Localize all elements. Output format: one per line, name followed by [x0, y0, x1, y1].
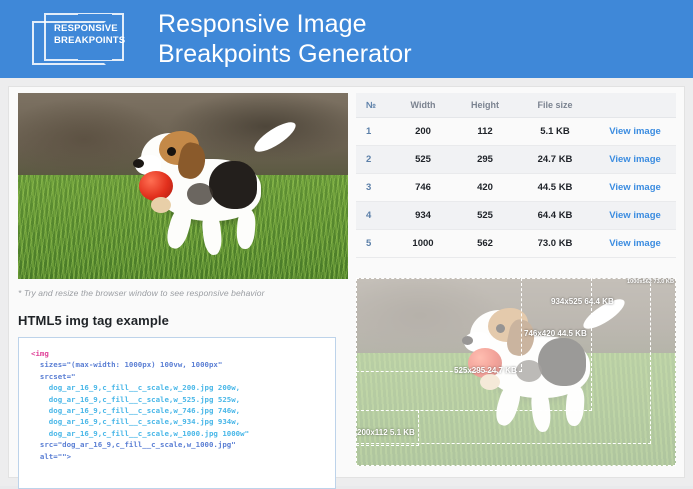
code-line-1: <img — [31, 349, 49, 358]
resize-hint: * Try and resize the browser window to s… — [18, 288, 348, 298]
bp-label-746: 746x420 44.5 KB — [524, 329, 587, 338]
cell-height: 525 — [454, 202, 516, 230]
logo[interactable]: RESPONSIVE BREAKPOINTS — [32, 11, 134, 67]
table-row: 1 200 112 5.1 KB View image — [356, 118, 676, 146]
code-line-7: dog_ar_16_9,c_fill__c_scale,w_934.jpg 93… — [31, 417, 240, 426]
dog-paw — [151, 197, 171, 213]
app-header: RESPONSIVE BREAKPOINTS Responsive Image … — [0, 0, 693, 78]
cell-action: View image — [594, 174, 676, 202]
dog-eye — [167, 147, 176, 156]
code-line-4: dog_ar_16_9,c_fill__c_scale,w_200.jpg 20… — [31, 383, 240, 392]
red-ball — [139, 171, 173, 201]
bp-label-200: 200x112 5.1 KB — [357, 428, 415, 437]
table-header-row: № Width Height File size — [356, 93, 676, 118]
cell-width: 200 — [392, 118, 454, 146]
table-row: 5 1000 562 73.0 KB View image — [356, 230, 676, 258]
table-row: 3 746 420 44.5 KB View image — [356, 174, 676, 202]
left-column: * Try and resize the browser window to s… — [18, 93, 348, 489]
logo-text: RESPONSIVE BREAKPOINTS — [54, 23, 125, 46]
cell-action: View image — [594, 230, 676, 258]
col-header-width: Width — [392, 93, 454, 118]
breakpoints-preview: 1000x562 73.0 KB 934x525 64.4 KB 746x420… — [356, 278, 676, 466]
view-image-link[interactable]: View image — [609, 210, 661, 221]
cell-height: 562 — [454, 230, 516, 258]
cell-filesize: 24.7 KB — [516, 146, 594, 174]
page-title-line1: Responsive Image — [158, 9, 412, 39]
cell-width: 934 — [392, 202, 454, 230]
dog-tail — [251, 117, 300, 157]
dog-nose — [133, 159, 144, 168]
cell-number: 4 — [356, 202, 392, 230]
table-row: 2 525 295 24.7 KB View image — [356, 146, 676, 174]
page-title-line2: Breakpoints Generator — [158, 39, 412, 69]
code-line-3: srcset=" — [31, 372, 76, 381]
logo-text-line1: RESPONSIVE — [54, 23, 125, 35]
cell-filesize: 44.5 KB — [516, 174, 594, 202]
logo-notch-top — [78, 14, 112, 20]
bp-rect-525 — [356, 278, 522, 372]
cell-action: View image — [594, 118, 676, 146]
logo-notch-bottom — [78, 54, 112, 60]
code-line-2: sizes="(max-width: 1000px) 100vw, 1000px… — [31, 360, 222, 369]
code-snippet: <img sizes="(max-width: 1000px) 100vw, 1… — [31, 348, 325, 462]
dog-patch — [209, 161, 257, 209]
cell-number: 5 — [356, 230, 392, 258]
bp-label-934: 934x525 64.4 KB — [551, 297, 614, 306]
cell-width: 1000 — [392, 230, 454, 258]
content-card: * Try and resize the browser window to s… — [8, 86, 685, 478]
photo-dog — [123, 123, 313, 263]
view-image-link[interactable]: View image — [609, 238, 661, 249]
bp-label-525: 525x295 24.7 KB — [454, 366, 517, 375]
col-header-action — [594, 93, 676, 118]
cell-number: 2 — [356, 146, 392, 174]
view-image-link[interactable]: View image — [609, 182, 661, 193]
cell-height: 420 — [454, 174, 516, 202]
cell-height: 295 — [454, 146, 516, 174]
app-page: RESPONSIVE BREAKPOINTS Responsive Image … — [0, 0, 693, 486]
dog-patch-secondary — [187, 183, 213, 205]
page-title: Responsive Image Breakpoints Generator — [158, 9, 412, 69]
cell-filesize: 64.4 KB — [516, 202, 594, 230]
code-line-10: alt=""> — [31, 452, 71, 461]
cell-action: View image — [594, 202, 676, 230]
code-line-5: dog_ar_16_9,c_fill__c_scale,w_525.jpg 52… — [31, 395, 240, 404]
cell-width: 525 — [392, 146, 454, 174]
preview-photo — [18, 93, 348, 279]
cell-action: View image — [594, 146, 676, 174]
code-line-8: dog_ar_16_9,c_fill__c_scale,w_1000.jpg 1… — [31, 429, 249, 438]
logo-text-line2: BREAKPOINTS — [54, 35, 125, 47]
cell-height: 112 — [454, 118, 516, 146]
view-image-link[interactable]: View image — [609, 126, 661, 137]
right-column: № Width Height File size 1 200 112 5.1 K… — [356, 93, 676, 466]
cell-width: 746 — [392, 174, 454, 202]
code-line-9: src="dog_ar_16_9,c_fill__c_scale,w_1000.… — [31, 440, 236, 449]
view-image-link[interactable]: View image — [609, 154, 661, 165]
col-header-height: Height — [454, 93, 516, 118]
cell-filesize: 5.1 KB — [516, 118, 594, 146]
col-header-filesize: File size — [516, 93, 594, 118]
code-section-title: HTML5 img tag example — [18, 313, 348, 328]
bp-label-1000: 1000x562 73.0 KB — [627, 279, 674, 285]
code-snippet-box[interactable]: <img sizes="(max-width: 1000px) 100vw, 1… — [18, 337, 336, 489]
dog-leg-rear — [236, 208, 257, 249]
table-row: 4 934 525 64.4 KB View image — [356, 202, 676, 230]
col-header-number: № — [356, 93, 392, 118]
cell-filesize: 73.0 KB — [516, 230, 594, 258]
cell-number: 3 — [356, 174, 392, 202]
cell-number: 1 — [356, 118, 392, 146]
code-line-6: dog_ar_16_9,c_fill__c_scale,w_746.jpg 74… — [31, 406, 240, 415]
dog-leg-front — [164, 205, 195, 251]
breakpoints-table: № Width Height File size 1 200 112 5.1 K… — [356, 93, 676, 258]
